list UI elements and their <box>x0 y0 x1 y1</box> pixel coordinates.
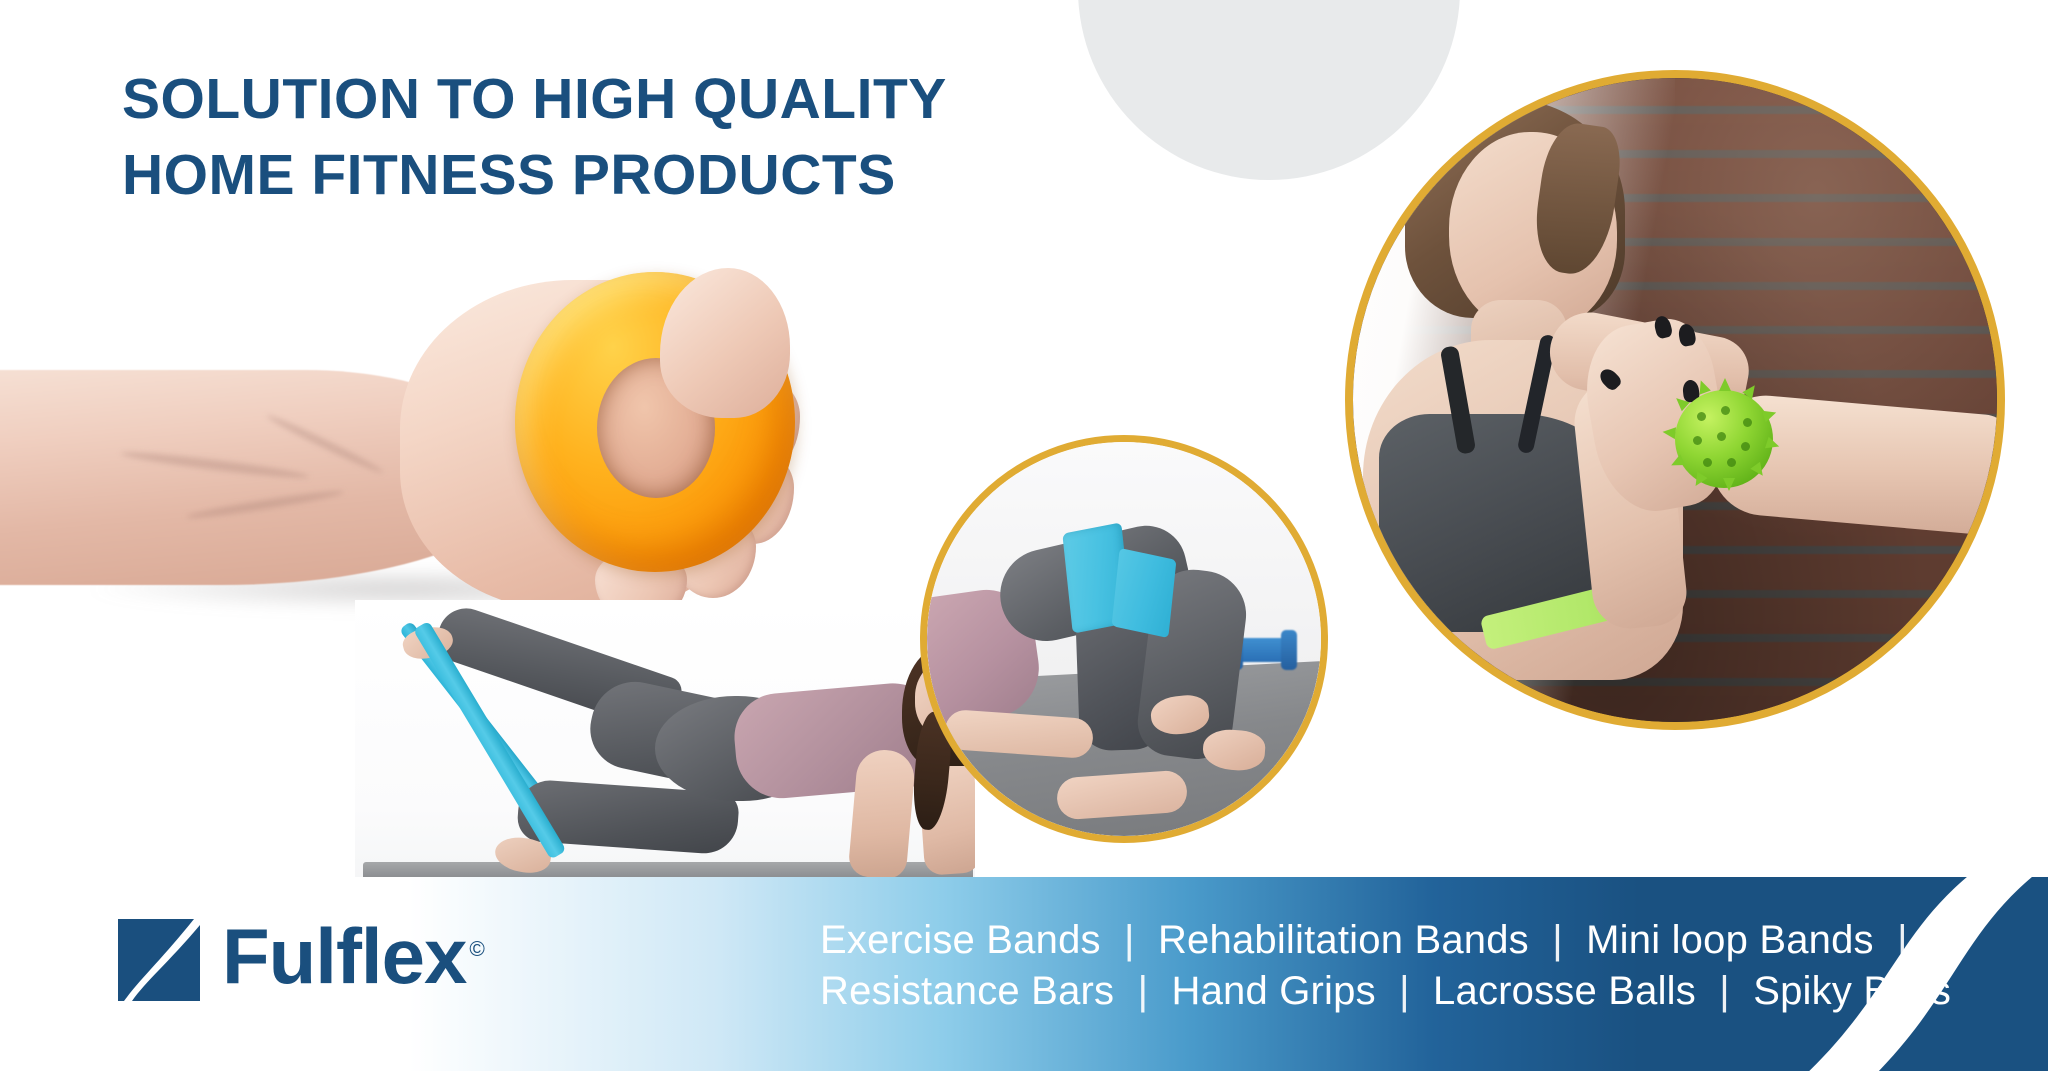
circle-photo-inner <box>927 442 1321 836</box>
separator: | <box>1387 969 1422 1013</box>
product-rehabilitation-bands[interactable]: Rehabilitation Bands <box>1158 918 1529 962</box>
ball-dot <box>1717 432 1726 441</box>
mini-loop-band-right <box>1112 548 1177 638</box>
ball-dot <box>1743 418 1752 427</box>
logo-copyright: © <box>469 938 483 961</box>
photo-circle-spiky-ball <box>1345 70 2005 730</box>
product-hand-grips[interactable]: Hand Grips <box>1171 969 1375 1013</box>
product-exercise-bands[interactable]: Exercise Bands <box>820 918 1101 962</box>
spike-icon <box>1719 378 1731 391</box>
support-arm-left <box>848 748 917 881</box>
logo-wordmark: Fulflex© <box>222 919 484 993</box>
product-list-row-1: Exercise Bands | Rehabilitation Bands | … <box>820 915 1951 966</box>
product-list-row-2: Resistance Bars | Hand Grips | Lacrosse … <box>820 966 1951 1017</box>
spike-icon <box>1723 478 1735 491</box>
ball-dot <box>1693 436 1702 445</box>
ball-dot <box>1727 458 1736 467</box>
product-lacrosse-balls[interactable]: Lacrosse Balls <box>1433 969 1696 1013</box>
logo-mark-icon <box>118 919 200 1001</box>
photo-band-donkey-kick <box>355 600 975 890</box>
logo-name: Fulflex <box>222 912 466 1000</box>
ball-dot <box>1721 406 1730 415</box>
separator: | <box>1707 969 1742 1013</box>
product-mini-loop-bands[interactable]: Mini loop Bands <box>1586 918 1874 962</box>
ball-dot <box>1741 442 1750 451</box>
product-list: Exercise Bands | Rehabilitation Bands | … <box>820 915 1951 1017</box>
photo-circle-mini-loop-band <box>920 435 1328 843</box>
ball-dot <box>1697 412 1706 421</box>
headline-line-2: HOME FITNESS PRODUCTS <box>122 138 947 214</box>
footer-bar: Fulflex© Exercise Bands | Rehabilitation… <box>0 877 2048 1071</box>
separator: | <box>1112 918 1147 962</box>
separator: | <box>1540 918 1575 962</box>
ball-dot <box>1703 458 1712 467</box>
promotional-banner: SOLUTION TO HIGH QUALITY HOME FITNESS PR… <box>0 0 2048 1071</box>
separator: | <box>1126 969 1161 1013</box>
spike-icon <box>1662 426 1676 439</box>
product-spiky-balls[interactable]: Spiky Balls <box>1753 969 1951 1013</box>
separator: | <box>1885 918 1920 962</box>
product-resistance-bars[interactable]: Resistance Bars <box>820 969 1114 1013</box>
headline: SOLUTION TO HIGH QUALITY HOME FITNESS PR… <box>122 62 947 214</box>
headline-line-1: SOLUTION TO HIGH QUALITY <box>122 62 947 138</box>
logo[interactable]: Fulflex© <box>118 919 484 1001</box>
